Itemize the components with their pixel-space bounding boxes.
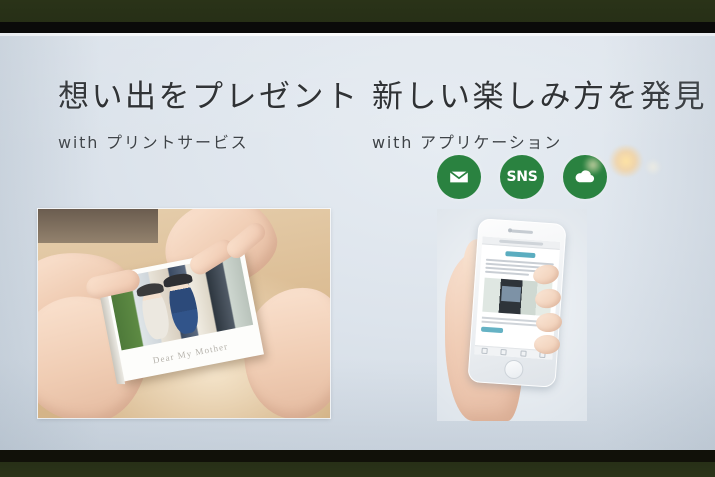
projected-slide-photograph: 想い出をプレゼント with プリントサービス 新しい楽しみ方を発見 with … [0,0,715,477]
column-print-service: 想い出をプレゼント with プリントサービス [58,71,360,153]
photo-application [437,209,587,421]
site-logo [505,251,535,258]
photo-print-service: Dear My Mother [38,209,330,418]
toolbar-icon [520,350,526,356]
cloud-icon [572,164,598,190]
body-text-line [485,271,529,276]
lens-flare-tertiary [644,159,662,175]
phone-home-button [503,359,523,379]
phone-earpiece [511,229,533,234]
presentation-slide: 想い出をプレゼント with プリントサービス 新しい楽しみ方を発見 with … [0,33,715,450]
screen-bezel-bottom [0,448,715,462]
subheading-application: with アプリケーション [372,129,707,153]
heading-application: 新しい楽しみ方を発見 [372,71,707,116]
screen-top-seam [0,33,715,36]
background-shelf [38,209,158,243]
envelope-icon [447,165,471,189]
badge-mail [437,155,481,199]
badge-sns: SNS [500,155,544,199]
browser-chrome [482,236,560,249]
call-to-action-chip [481,327,503,334]
toolbar-icon [501,349,507,355]
subheading-print-service: with プリントサービス [58,129,360,153]
browser-url-bar [499,240,543,246]
toolbar-icon [481,348,487,354]
badge-cloud [563,155,607,199]
sns-text-icon: SNS [507,169,538,185]
heading-print-service: 想い出をプレゼント [58,71,360,116]
column-application: 新しい楽しみ方を発見 with アプリケーション [372,71,707,153]
service-badge-row: SNS [437,155,607,199]
